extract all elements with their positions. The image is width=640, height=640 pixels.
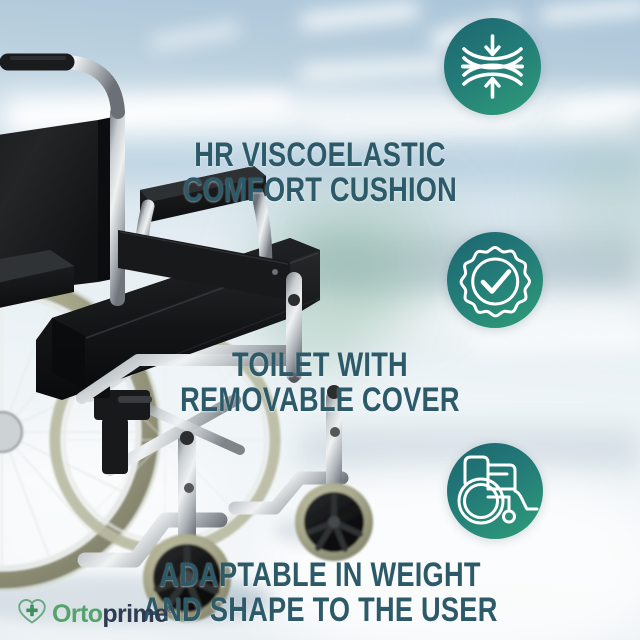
feature-line-1: HR VISCOELASTIC bbox=[64, 138, 576, 173]
check-badge-icon bbox=[447, 232, 543, 328]
logo-text-orto: Orto bbox=[52, 600, 102, 628]
feature-line-2: REMOVABLE COVER bbox=[64, 383, 576, 418]
wheelchair-photo bbox=[0, 0, 390, 640]
wheelchair-icon bbox=[447, 443, 543, 539]
promo-poster: HR VISCOELASTIC COMFORT CUSHION TOILET W… bbox=[0, 0, 640, 640]
feature-line-2: COMFORT CUSHION bbox=[64, 173, 576, 208]
cushion-compression-icon bbox=[444, 18, 541, 115]
logo-trademark: ® bbox=[167, 604, 173, 614]
ortoprime-logo[interactable]: Ortoprime® bbox=[17, 598, 174, 630]
logo-wordmark: Ortoprime® bbox=[52, 602, 174, 627]
feature-line-1: ADAPTABLE IN WEIGHT bbox=[64, 558, 576, 593]
feature-text-cushion: HR VISCOELASTIC COMFORT CUSHION bbox=[64, 138, 576, 207]
logo-text-prime: prime bbox=[102, 600, 167, 628]
feature-text-toilet: TOILET WITH REMOVABLE COVER bbox=[64, 348, 576, 417]
feature-line-1: TOILET WITH bbox=[64, 348, 576, 383]
heart-cross-icon bbox=[17, 598, 47, 630]
